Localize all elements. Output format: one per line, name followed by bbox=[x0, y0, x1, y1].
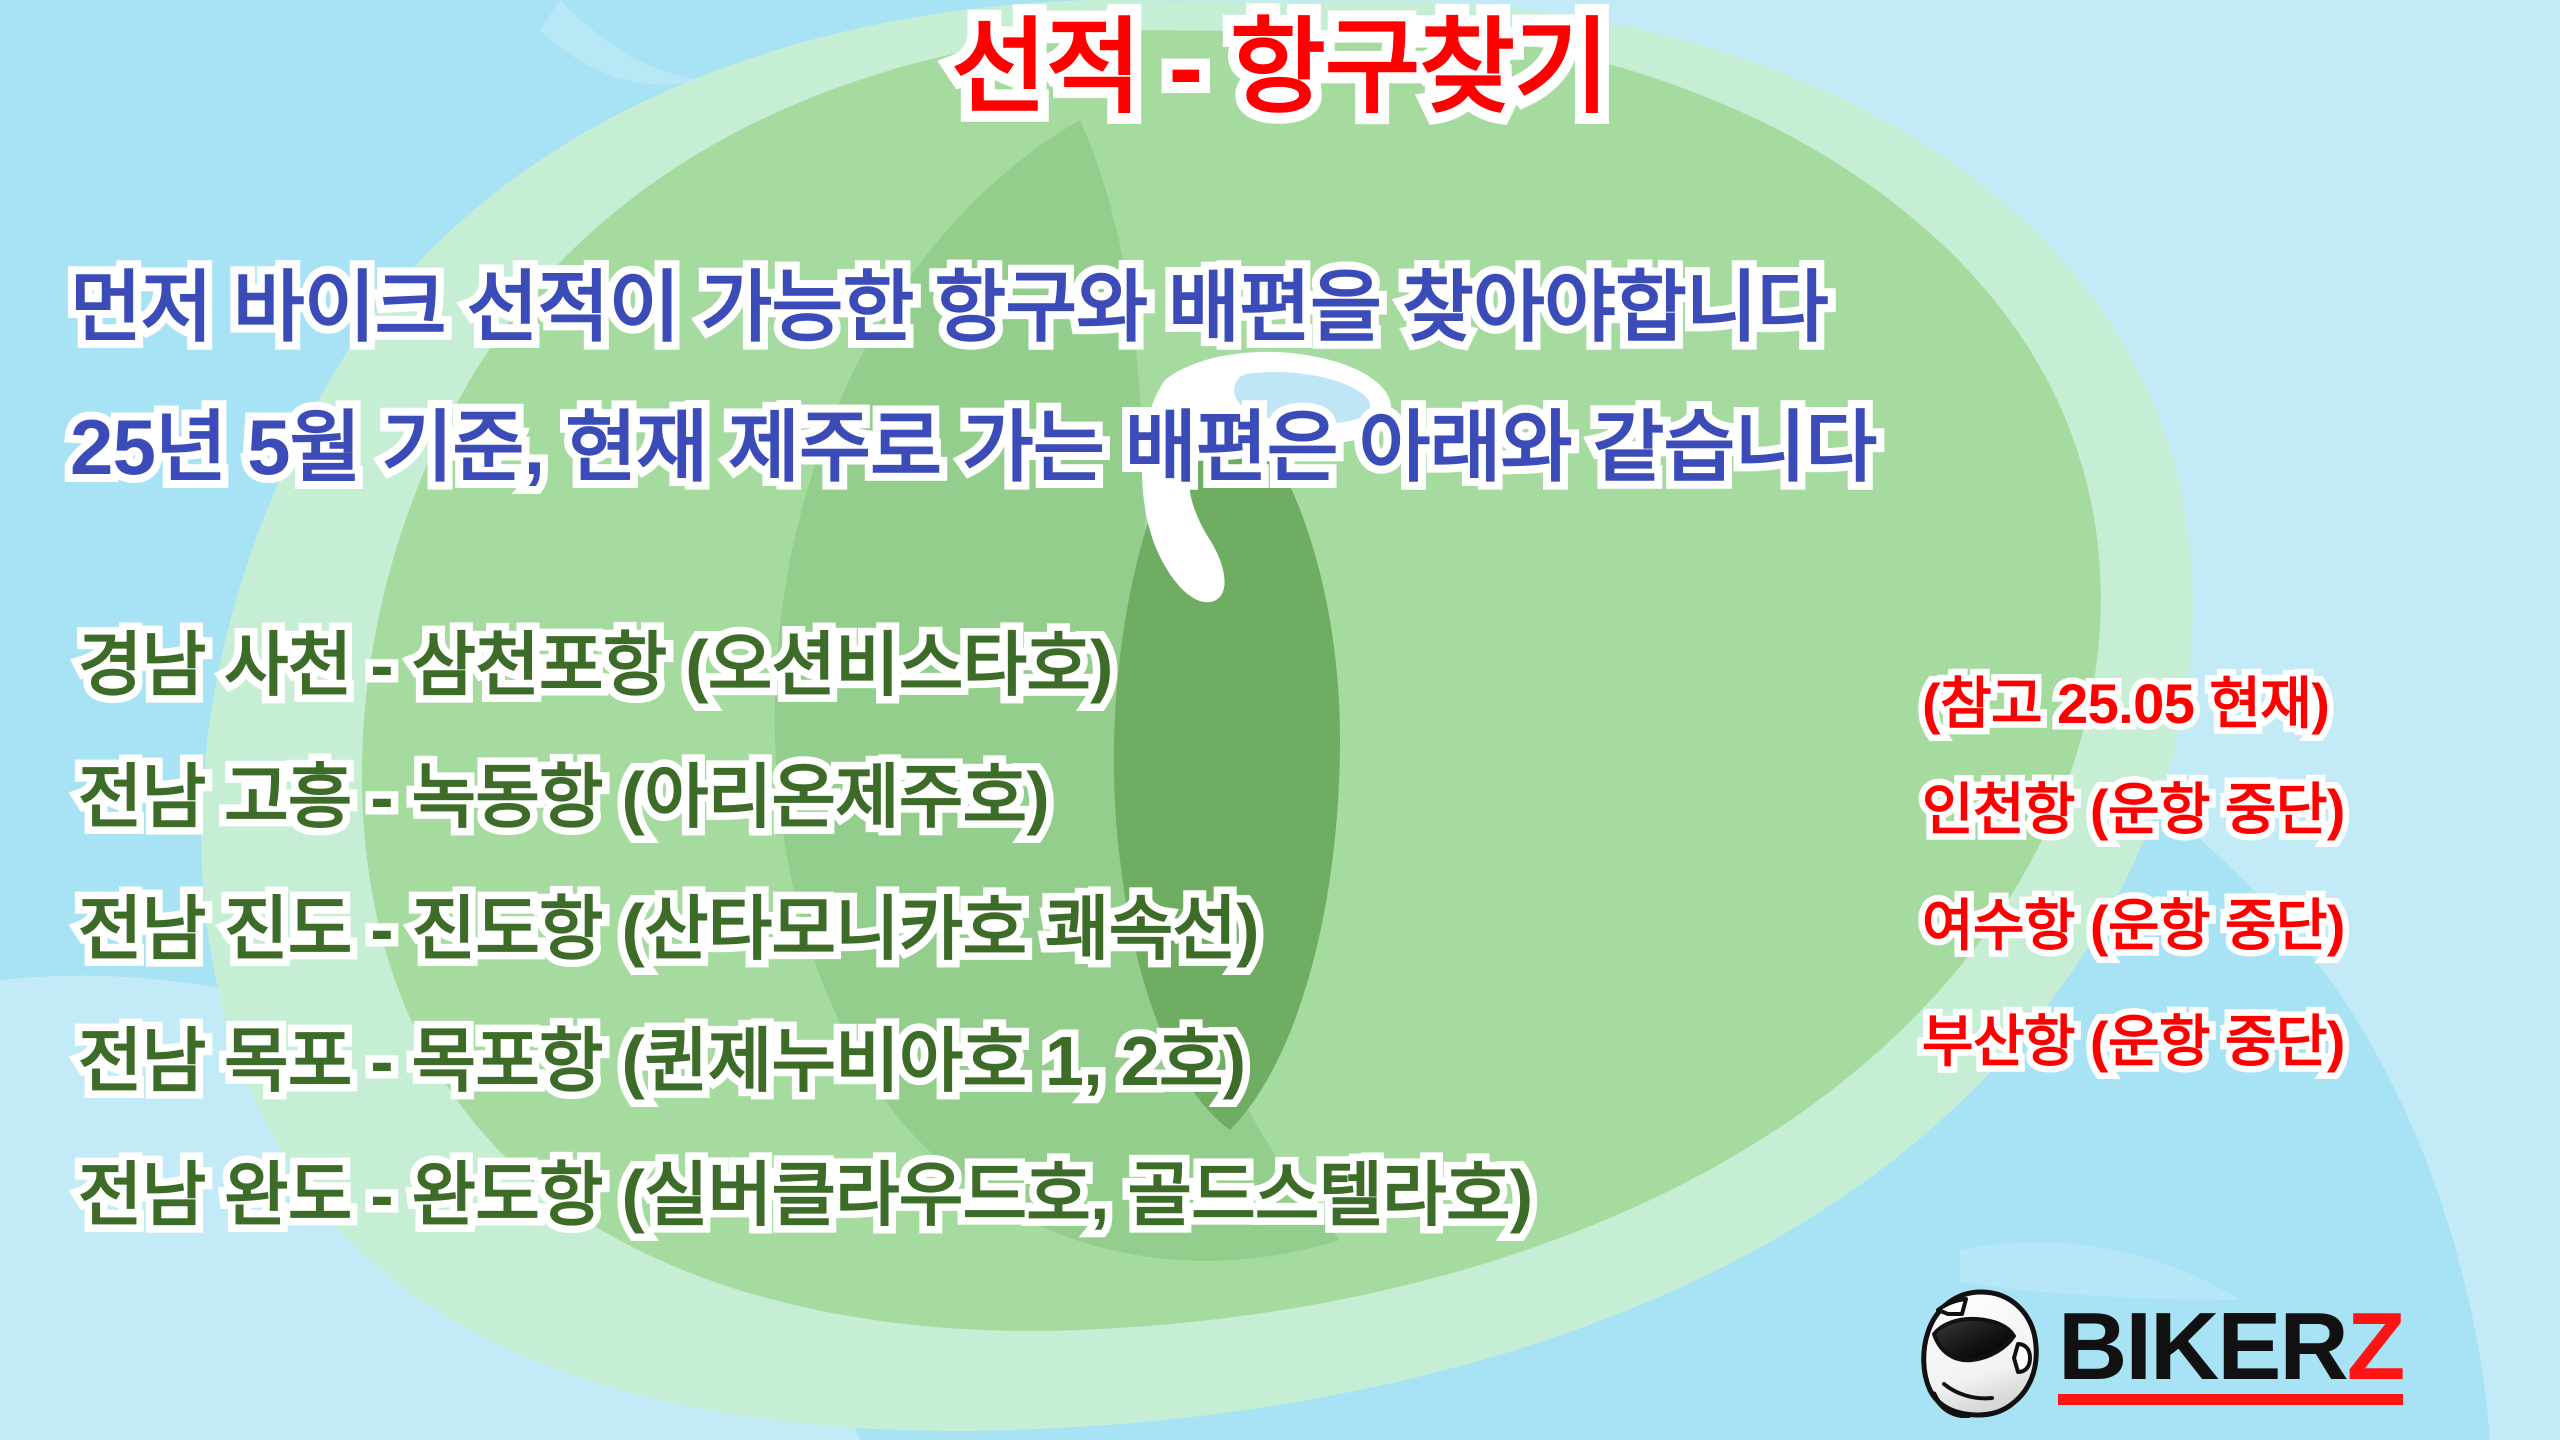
notice-heading: (참고 25.05 현재) bbox=[1922, 676, 2329, 732]
brand-wordmark: BIKERZ bbox=[2058, 1301, 2403, 1405]
notice-item: 인천항 (운항 중단) bbox=[1922, 782, 2345, 838]
route-list-item: 전남 완도 - 완도항 (실버클라우드호, 골드스텔라호) bbox=[78, 1160, 1532, 1230]
route-list-item: 경남 사천 - 삼천포항 (오션비스타호) bbox=[78, 630, 1113, 700]
page-title: 선적 - 항구찾기 bbox=[0, 16, 2560, 120]
brand-text-accent: Z bbox=[2347, 1293, 2404, 1400]
brand-underline bbox=[2058, 1394, 2403, 1405]
route-list-item: 전남 진도 - 진도항 (산타모니카호 쾌속선) bbox=[78, 894, 1259, 964]
brand-text-main: BIKER bbox=[2058, 1293, 2347, 1400]
brand-logo: BIKERZ bbox=[1918, 1288, 2403, 1418]
route-list-item: 전남 고흥 - 녹동항 (아리온제주호) bbox=[78, 762, 1049, 832]
motorcycle-helmet-icon bbox=[1918, 1288, 2044, 1418]
notice-item: 부산항 (운항 중단) bbox=[1922, 1014, 2345, 1070]
subtitle-line-2: 25년 5월 기준, 현재 제주로 가는 배편은 아래와 같습니다 bbox=[70, 408, 1876, 486]
notice-item: 여수항 (운항 중단) bbox=[1922, 898, 2345, 954]
brand-text: BIKERZ bbox=[2058, 1301, 2403, 1392]
poster-canvas: 선적 - 항구찾기 먼저 바이크 선적이 가능한 항구와 배편을 찾아야합니다 … bbox=[0, 0, 2560, 1440]
route-list-item: 전남 목포 - 목포항 (퀸제누비아호 1, 2호) bbox=[78, 1026, 1245, 1096]
subtitle-line-1: 먼저 바이크 선적이 가능한 항구와 배편을 찾아야합니다 bbox=[70, 268, 1828, 346]
